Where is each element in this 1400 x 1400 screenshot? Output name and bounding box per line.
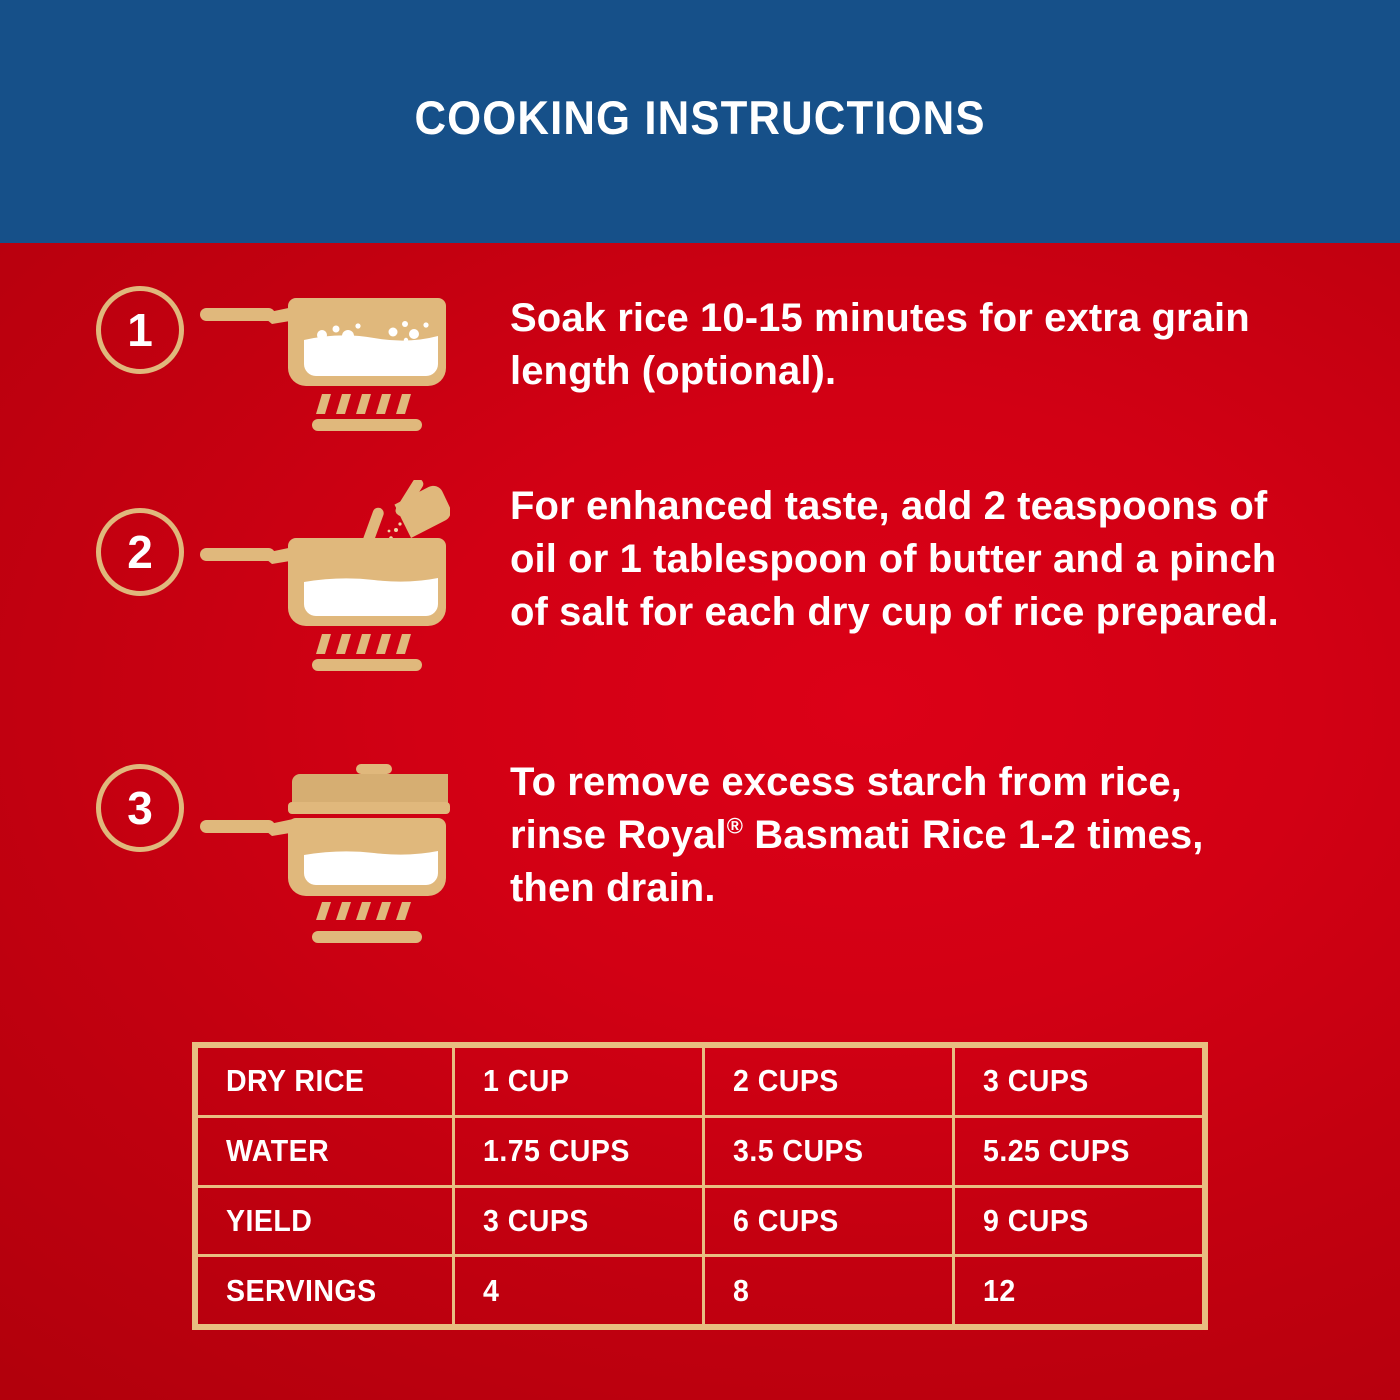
open-pot-boiling-water-icon bbox=[200, 288, 450, 438]
table-cell-value: 1.75 CUPS bbox=[454, 1116, 704, 1186]
pot-with-spoon-and-measuring-scoop-icon bbox=[200, 480, 450, 680]
table-row: SERVINGS 4 8 12 bbox=[197, 1256, 1204, 1326]
step-number-badge-3: 3 bbox=[96, 764, 184, 852]
step-text-3: To remove excess starch from rice, rinse… bbox=[510, 756, 1270, 916]
table-cell-value: 12 bbox=[954, 1256, 1204, 1326]
table-row: DRY RICE 1 CUP 2 CUPS 3 CUPS bbox=[197, 1047, 1204, 1117]
cooking-ratio-table: DRY RICE 1 CUP 2 CUPS 3 CUPS WATER 1.75 … bbox=[192, 1042, 1208, 1330]
registered-trademark-icon: ® bbox=[727, 814, 743, 839]
table-cell-value: 3.5 CUPS bbox=[704, 1116, 954, 1186]
table-cell-value: 2 CUPS bbox=[704, 1047, 954, 1117]
table-cell-label: WATER bbox=[197, 1116, 454, 1186]
step-number-badge-1: 1 bbox=[96, 286, 184, 374]
table-cell-value: 8 bbox=[704, 1256, 954, 1326]
table-cell-label: DRY RICE bbox=[197, 1047, 454, 1117]
covered-pot-with-lid-icon bbox=[200, 750, 450, 920]
table-cell-value: 4 bbox=[454, 1256, 704, 1326]
table-cell-label: YIELD bbox=[197, 1186, 454, 1256]
table-cell-label: SERVINGS bbox=[197, 1256, 454, 1326]
step-number-badge-2: 2 bbox=[96, 508, 184, 596]
table-row: YIELD 3 CUPS 6 CUPS 9 CUPS bbox=[197, 1186, 1204, 1256]
table-cell-value: 5.25 CUPS bbox=[954, 1116, 1204, 1186]
step-text-1: Soak rice 10-15 minutes for extra grain … bbox=[510, 292, 1270, 398]
table-cell-value: 9 CUPS bbox=[954, 1186, 1204, 1256]
burner-bar-icon-3 bbox=[312, 930, 422, 948]
table-cell-value: 1 CUP bbox=[454, 1047, 704, 1117]
page-header: COOKING INSTRUCTIONS bbox=[0, 0, 1400, 243]
step-text-2: For enhanced taste, add 2 teaspoons of o… bbox=[510, 480, 1300, 640]
table-cell-value: 3 CUPS bbox=[454, 1186, 704, 1256]
table-row: WATER 1.75 CUPS 3.5 CUPS 5.25 CUPS bbox=[197, 1116, 1204, 1186]
table-cell-value: 6 CUPS bbox=[704, 1186, 954, 1256]
page-title: COOKING INSTRUCTIONS bbox=[414, 90, 985, 145]
table-cell-value: 3 CUPS bbox=[954, 1047, 1204, 1117]
